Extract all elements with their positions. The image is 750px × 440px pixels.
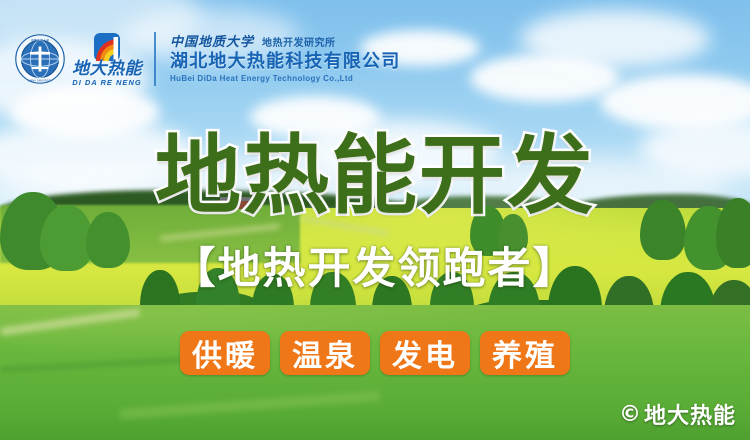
svg-text:CHINA UNIVERSITY: CHINA UNIVERSITY bbox=[28, 79, 53, 83]
brand-name-cn: 地大热能 bbox=[72, 61, 142, 78]
logo-divider bbox=[154, 32, 156, 86]
copyright-icon: © bbox=[619, 402, 642, 427]
page-subtitle: 【地热开发领跑者】 bbox=[0, 248, 750, 291]
dida-brandmark: 地大热能 DI DA RE NENG bbox=[72, 32, 142, 87]
page-title: 地热能开发 bbox=[0, 133, 750, 219]
copyright-owner: 地大热能 bbox=[644, 398, 736, 430]
university-seal-icon: 中国地质大学 CHINA UNIVERSITY bbox=[14, 33, 66, 85]
organization-text: 中国地质大学 地热开发研究所 湖北地大热能科技有限公司 HuBei DiDa H… bbox=[170, 36, 400, 83]
tag-aquaculture[interactable]: 养殖 bbox=[480, 331, 570, 375]
rainbow-mark-icon bbox=[93, 32, 121, 62]
university-name: 中国地质大学 bbox=[170, 36, 254, 49]
geothermal-banner: 中国地质大学 CHINA UNIVERSITY 地大热能 DI DA RE NE… bbox=[0, 0, 750, 440]
brand-name-pinyin: DI DA RE NENG bbox=[72, 79, 141, 87]
company-name-en: HuBei DiDa Heat Energy Technology Co.,Lt… bbox=[170, 75, 400, 83]
copyright-watermark: © 地大热能 bbox=[619, 398, 736, 430]
tag-hot-spring[interactable]: 温泉 bbox=[280, 331, 370, 375]
tag-heating[interactable]: 供暖 bbox=[180, 331, 270, 375]
brand-lockup[interactable]: 中国地质大学 CHINA UNIVERSITY 地大热能 DI DA RE NE… bbox=[14, 20, 400, 98]
company-name-cn: 湖北地大热能科技有限公司 bbox=[170, 53, 400, 71]
service-tag-row: 供暖 温泉 发电 养殖 bbox=[0, 331, 750, 375]
tag-power-generation[interactable]: 发电 bbox=[380, 331, 470, 375]
header-logo-bar: 中国地质大学 CHINA UNIVERSITY 地大热能 DI DA RE NE… bbox=[0, 20, 750, 98]
svg-text:中国地质大学: 中国地质大学 bbox=[31, 38, 50, 43]
institute-name: 地热开发研究所 bbox=[262, 39, 336, 49]
